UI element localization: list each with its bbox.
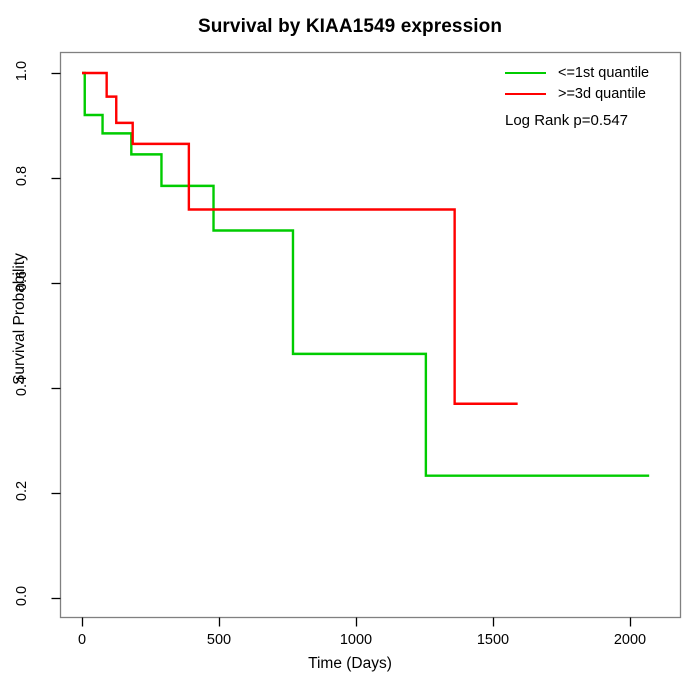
y-axis-title: Survival Probability [11,209,29,429]
x-tick-label-3: 1500 [477,632,509,648]
legend-swatch-red [505,93,546,95]
x-axis-ticks [83,618,631,627]
y-tick-label-5: 1.0 [14,49,30,93]
survival-curve-first-quantile [82,73,649,476]
x-tick-label-2: 1000 [340,632,372,648]
x-tick-label-1: 500 [207,632,231,648]
y-axis-ticks [52,74,61,599]
plot-frame [61,53,681,618]
y-tick-label-1: 0.2 [14,469,30,513]
x-axis-title: Time (Days) [0,655,700,673]
survival-plot: Survival by KIAA1549 expression 05001000… [0,0,700,700]
legend-item-third-quantile: >=3d quantile [505,83,649,104]
plot-canvas [0,0,700,700]
x-tick-label-4: 2000 [614,632,646,648]
data-series-group [82,73,649,476]
legend-label-third-quantile: >=3d quantile [558,86,646,102]
log-rank-pvalue-annotation: Log Rank p=0.547 [505,112,628,129]
y-tick-label-4: 0.8 [14,154,30,198]
x-tick-label-0: 0 [78,632,86,648]
legend: <=1st quantile >=3d quantile [505,62,649,104]
y-tick-label-0: 0.0 [14,574,30,618]
legend-item-first-quantile: <=1st quantile [505,62,649,83]
legend-label-first-quantile: <=1st quantile [558,65,649,81]
legend-swatch-green [505,72,546,74]
